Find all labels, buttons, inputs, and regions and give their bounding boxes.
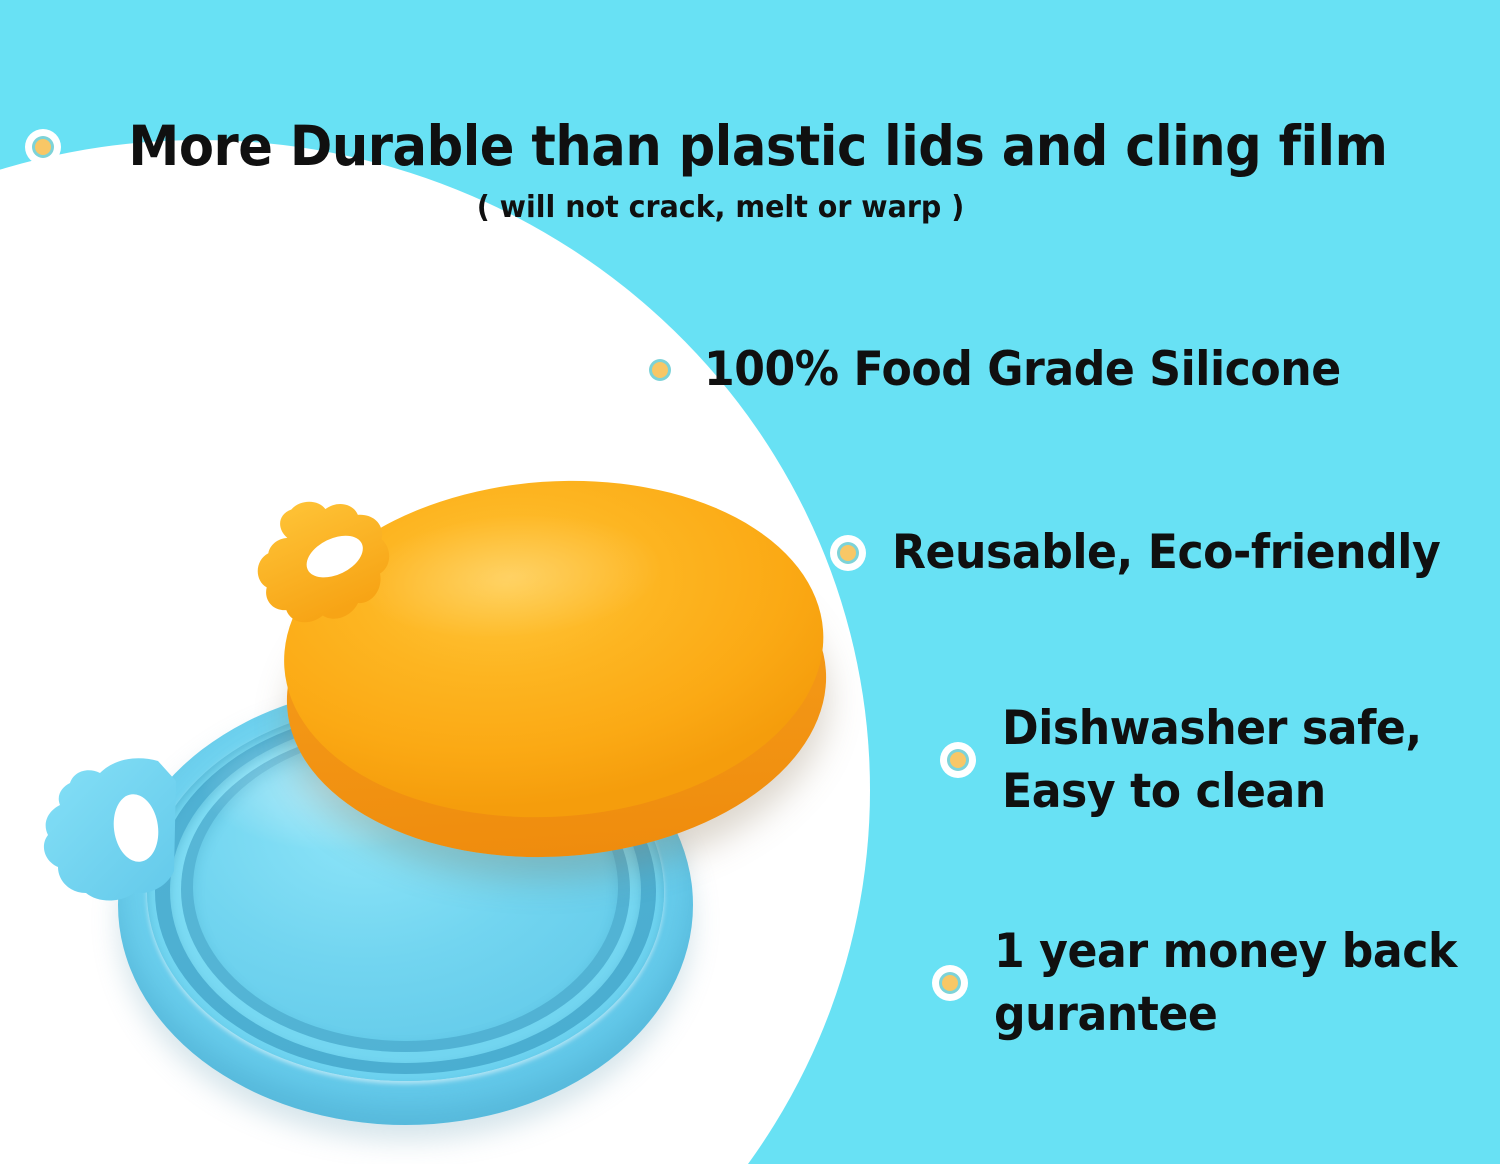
page-subtitle: ( will not crack, melt or warp ) — [37, 190, 1424, 225]
target-dot-core — [840, 545, 856, 561]
target-dot-icon — [940, 742, 976, 778]
feature-line: 100% Food Grade Silicone — [704, 342, 1341, 397]
feature-list: 100% Food Grade Silicone Reusable, Eco-f… — [620, 320, 1500, 1047]
target-dot-icon — [25, 129, 61, 165]
feature-line: 1 year money back — [994, 920, 1457, 983]
feature-item-food-grade: 100% Food Grade Silicone — [642, 338, 1500, 401]
target-dot-core — [652, 362, 668, 378]
feature-label: Reusable, Eco-friendly — [892, 521, 1440, 584]
feature-item-money-back: 1 year money back gurantee — [932, 920, 1500, 1047]
target-dot-core — [942, 975, 958, 991]
orange-lid-paw-tab — [245, 494, 404, 634]
target-dot-icon — [830, 535, 866, 571]
product-feature-infographic: More Durable than plastic lids and cling… — [0, 0, 1500, 1164]
target-dot-ring — [649, 359, 671, 381]
feature-line: Dishwasher safe, — [1002, 697, 1422, 760]
feature-line: Reusable, Eco-friendly — [892, 525, 1440, 580]
target-dot-ring — [837, 542, 859, 564]
feature-label: Dishwasher safe, Easy to clean — [1002, 697, 1422, 824]
feature-item-reusable: Reusable, Eco-friendly — [830, 521, 1500, 584]
blue-lid-paw-tab — [40, 753, 180, 903]
target-dot-ring — [32, 136, 54, 158]
target-dot-icon — [642, 352, 678, 388]
feature-label: 100% Food Grade Silicone — [704, 338, 1341, 401]
headline-block: More Durable than plastic lids and cling… — [0, 118, 1460, 225]
feature-label: 1 year money back gurantee — [994, 920, 1457, 1047]
feature-item-dishwasher-safe: Dishwasher safe, Easy to clean — [940, 697, 1500, 824]
target-dot-core — [950, 752, 966, 768]
page-title: More Durable than plastic lids and cling… — [128, 118, 1387, 176]
target-dot-ring — [939, 972, 961, 994]
target-dot-core — [35, 139, 51, 155]
feature-line: Easy to clean — [1002, 760, 1422, 823]
feature-line: gurantee — [994, 983, 1457, 1046]
headline-row: More Durable than plastic lids and cling… — [0, 118, 1460, 176]
target-dot-ring — [947, 749, 969, 771]
target-dot-icon — [932, 965, 968, 1001]
